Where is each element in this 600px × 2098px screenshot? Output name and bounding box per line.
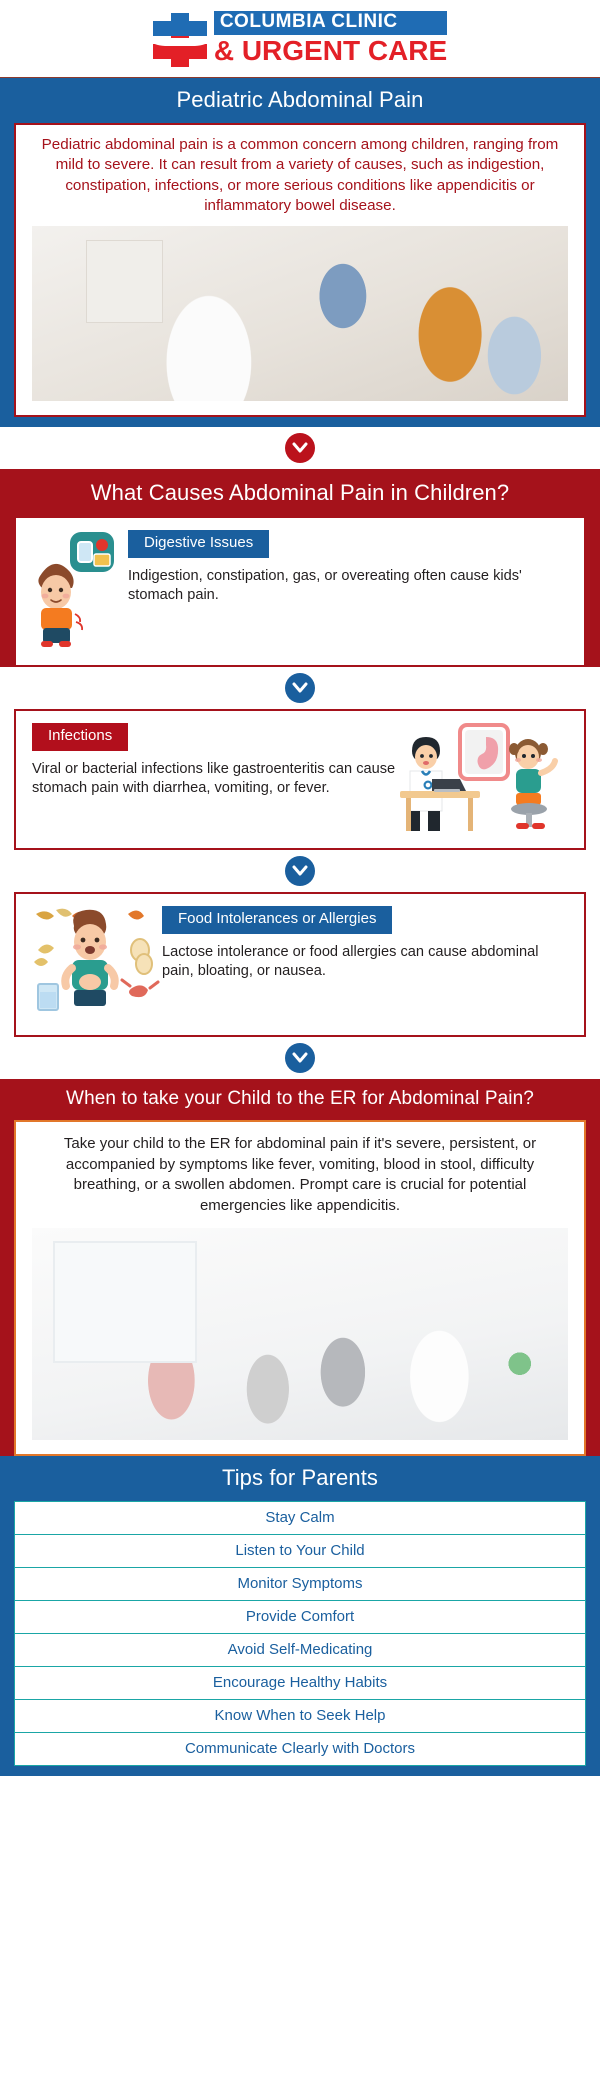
section-er-title: When to take your Child to the ER for Ab… [0, 1079, 600, 1120]
divider-intro-to-causes [0, 427, 600, 469]
page-header: COLUMBIA CLINIC & URGENT CARE [0, 0, 600, 78]
section-tips: Tips for Parents Stay Calm Listen to You… [0, 1456, 600, 1776]
section-er-card: Take your child to the ER for abdominal … [14, 1120, 586, 1456]
section-er: When to take your Child to the ER for Ab… [0, 1079, 600, 1456]
list-item: Avoid Self-Medicating [14, 1634, 586, 1667]
section-intro-card: Pediatric abdominal pain is a common con… [14, 123, 586, 417]
section-er-body: Take your child to the ER for abdominal … [32, 1134, 568, 1216]
list-item: Encourage Healthy Habits [14, 1667, 586, 1700]
cause-card-tag: Infections [32, 723, 128, 751]
section-causes-title: What Causes Abdominal Pain in Children? [0, 471, 600, 516]
clinic-logo: COLUMBIA CLINIC & URGENT CARE [153, 11, 447, 67]
tips-footer-band [0, 1766, 600, 1776]
list-item: Provide Comfort [14, 1601, 586, 1634]
chevron-down-icon [285, 673, 315, 703]
page-footer [0, 1776, 600, 1784]
doctor-with-stomach-chart-and-child-illustration [398, 723, 568, 836]
list-item: Communicate Clearly with Doctors [14, 1733, 586, 1766]
causes-card-1-wrap: Digestive Issues Indigestion, constipati… [0, 516, 600, 667]
er-photo [32, 1228, 568, 1440]
list-item: Monitor Symptoms [14, 1568, 586, 1601]
cause-card-food-intolerances: Food Intolerances or Allergies Lactose i… [14, 892, 586, 1037]
section-intro-body: Pediatric abdominal pain is a common con… [32, 135, 568, 216]
list-item: Stay Calm [14, 1501, 586, 1535]
cause-card-body: Viral or bacterial infections like gastr… [32, 760, 398, 799]
causes-card-2-wrap: Infections Viral or bacterial infections… [0, 709, 600, 850]
medical-cross-icon [153, 11, 207, 67]
cause-card-body: Indigestion, constipation, gas, or overe… [128, 567, 568, 606]
boy-with-stomach-ache-illustration [32, 530, 128, 653]
divider-card1-to-card2 [0, 667, 600, 709]
chevron-down-icon [285, 433, 315, 463]
list-item: Know When to Seek Help [14, 1700, 586, 1733]
cause-card-digestive-issues: Digestive Issues Indigestion, constipati… [14, 516, 586, 667]
cause-card-tag: Digestive Issues [128, 530, 269, 558]
section-causes: What Causes Abdominal Pain in Children? [0, 469, 600, 516]
section-intro: Pediatric Abdominal Pain Pediatric abdom… [0, 78, 600, 427]
tips-list: Stay Calm Listen to Your Child Monitor S… [14, 1501, 586, 1766]
logo-primary-text: COLUMBIA CLINIC [214, 11, 447, 35]
divider-card2-to-card3 [0, 850, 600, 892]
section-intro-title: Pediatric Abdominal Pain [0, 78, 600, 123]
chevron-down-icon [285, 856, 315, 886]
cause-card-tag: Food Intolerances or Allergies [162, 906, 392, 934]
cause-card-body: Lactose intolerance or food allergies ca… [162, 943, 568, 982]
list-item: Listen to Your Child [14, 1535, 586, 1568]
divider-causes-to-er [0, 1037, 600, 1079]
chevron-down-icon [285, 1043, 315, 1073]
boy-with-allergen-foods-illustration [32, 906, 162, 1023]
intro-photo [32, 226, 568, 401]
logo-secondary-text: & URGENT CARE [214, 37, 447, 66]
causes-card-3-wrap: Food Intolerances or Allergies Lactose i… [0, 892, 600, 1037]
section-tips-title: Tips for Parents [0, 1456, 600, 1501]
cause-card-infections: Infections Viral or bacterial infections… [14, 709, 586, 850]
